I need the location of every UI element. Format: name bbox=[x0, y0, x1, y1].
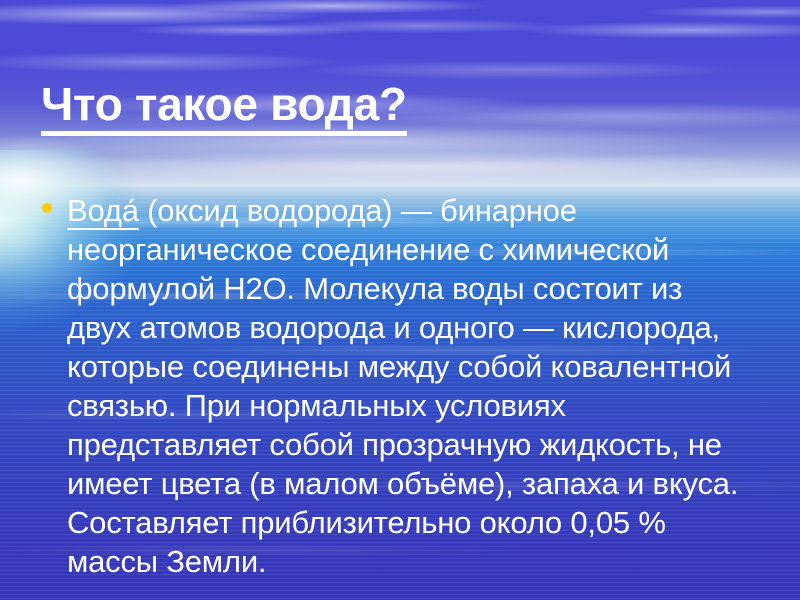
presentation-slide: Что такое вода? Вода́ (оксид водорода) —… bbox=[0, 0, 800, 600]
bullet-list-item: Вода́ (оксид водорода) — бинарное неорга… bbox=[41, 191, 741, 581]
slide-body: Вода́ (оксид водорода) — бинарное неорга… bbox=[41, 160, 741, 600]
lead-term: Вода́ bbox=[67, 193, 139, 230]
bullet-dot-icon bbox=[42, 203, 52, 213]
bullet-paragraph: Вода́ (оксид водорода) — бинарное неорга… bbox=[67, 191, 741, 581]
slide-title-text: Что такое вода? bbox=[41, 78, 407, 136]
slide-title: Что такое вода? bbox=[41, 78, 761, 136]
body-paragraph-rest: (оксид водорода) — бинарное неорганическ… bbox=[67, 193, 738, 579]
